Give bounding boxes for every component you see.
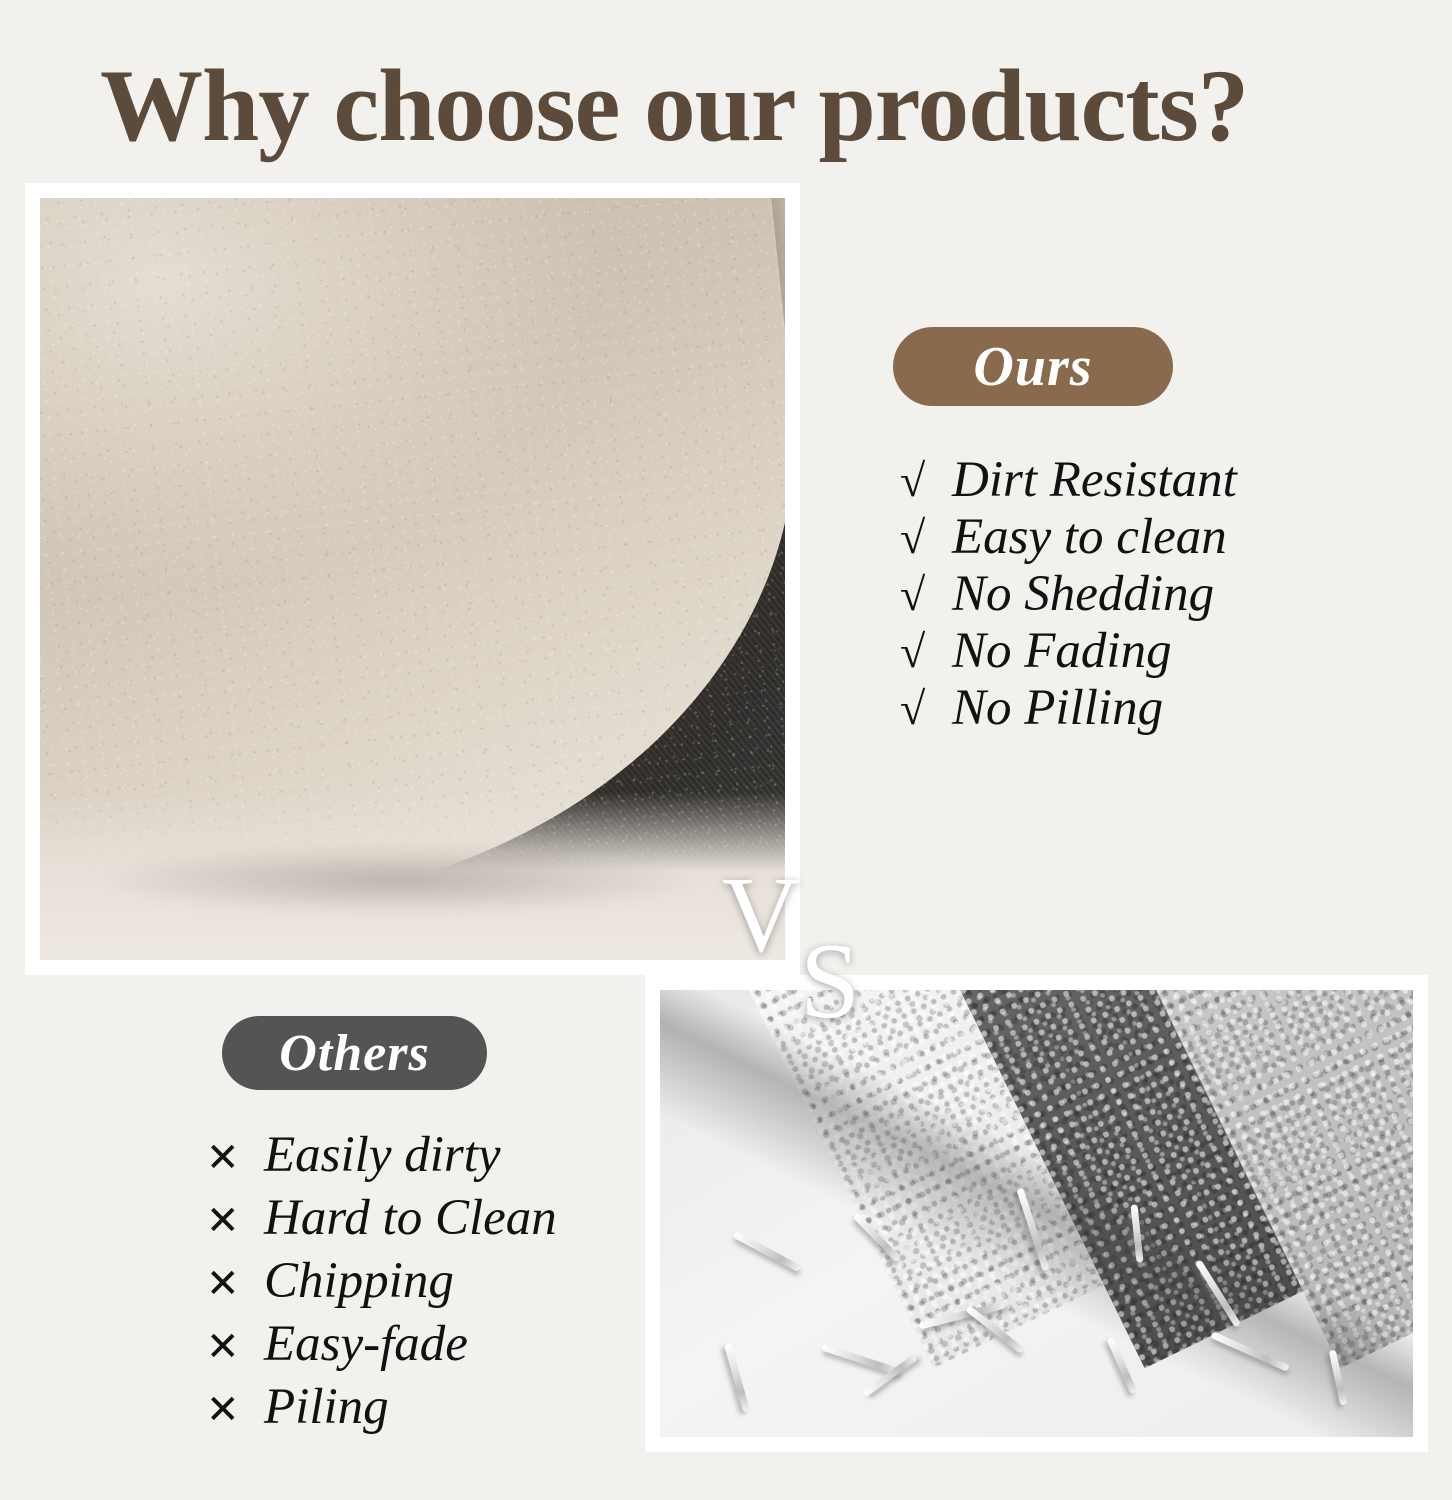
carpet-edge-shadow bbox=[660, 990, 1413, 1437]
list-item-label: No Fading bbox=[952, 623, 1172, 679]
others-product-photo-image bbox=[660, 990, 1413, 1437]
list-item-label: Hard to Clean bbox=[264, 1188, 557, 1249]
list-item: ✕ Easily dirty bbox=[206, 1125, 557, 1188]
list-item-label: Easy to clean bbox=[952, 509, 1227, 565]
check-icon: √ bbox=[900, 567, 952, 623]
list-item: ✕ Hard to Clean bbox=[206, 1188, 557, 1251]
list-item: √ No Fading bbox=[900, 623, 1237, 680]
list-item: √ No Pilling bbox=[900, 680, 1237, 737]
list-item-label: No Shedding bbox=[952, 566, 1214, 622]
check-icon: √ bbox=[900, 681, 952, 737]
page-title: Why choose our products? bbox=[100, 52, 1400, 160]
check-icon: √ bbox=[900, 510, 952, 566]
list-item: ✕ Easy-fade bbox=[206, 1314, 557, 1377]
infographic-page: Why choose our products? bbox=[0, 0, 1452, 1500]
cross-icon: ✕ bbox=[206, 1379, 264, 1440]
list-item-label: No Pilling bbox=[952, 680, 1163, 736]
cross-icon: ✕ bbox=[206, 1127, 264, 1188]
list-item-label: Chipping bbox=[264, 1251, 454, 1312]
others-badge: Others bbox=[222, 1016, 487, 1090]
list-item: ✕ Piling bbox=[206, 1377, 557, 1440]
mat-drop-shadow bbox=[100, 846, 696, 915]
list-item: √ Dirt Resistant bbox=[900, 452, 1237, 509]
cross-icon: ✕ bbox=[206, 1253, 264, 1314]
list-item-label: Dirt Resistant bbox=[952, 452, 1237, 508]
check-icon: √ bbox=[900, 453, 952, 509]
ours-product-photo-image bbox=[40, 198, 785, 960]
list-item: √ No Shedding bbox=[900, 566, 1237, 623]
cross-icon: ✕ bbox=[206, 1190, 264, 1251]
others-product-photo bbox=[645, 975, 1428, 1452]
others-feature-list: ✕ Easily dirty ✕ Hard to Clean ✕ Chippin… bbox=[206, 1125, 557, 1440]
ours-product-photo bbox=[25, 183, 800, 975]
check-icon: √ bbox=[900, 624, 952, 680]
list-item-label: Easy-fade bbox=[264, 1314, 468, 1375]
list-item: √ Easy to clean bbox=[900, 509, 1237, 566]
ours-badge: Ours bbox=[893, 327, 1173, 406]
ours-feature-list: √ Dirt Resistant √ Easy to clean √ No Sh… bbox=[900, 452, 1237, 737]
cross-icon: ✕ bbox=[206, 1316, 264, 1377]
list-item-label: Easily dirty bbox=[264, 1125, 501, 1186]
list-item: ✕ Chipping bbox=[206, 1251, 557, 1314]
list-item-label: Piling bbox=[264, 1377, 389, 1438]
